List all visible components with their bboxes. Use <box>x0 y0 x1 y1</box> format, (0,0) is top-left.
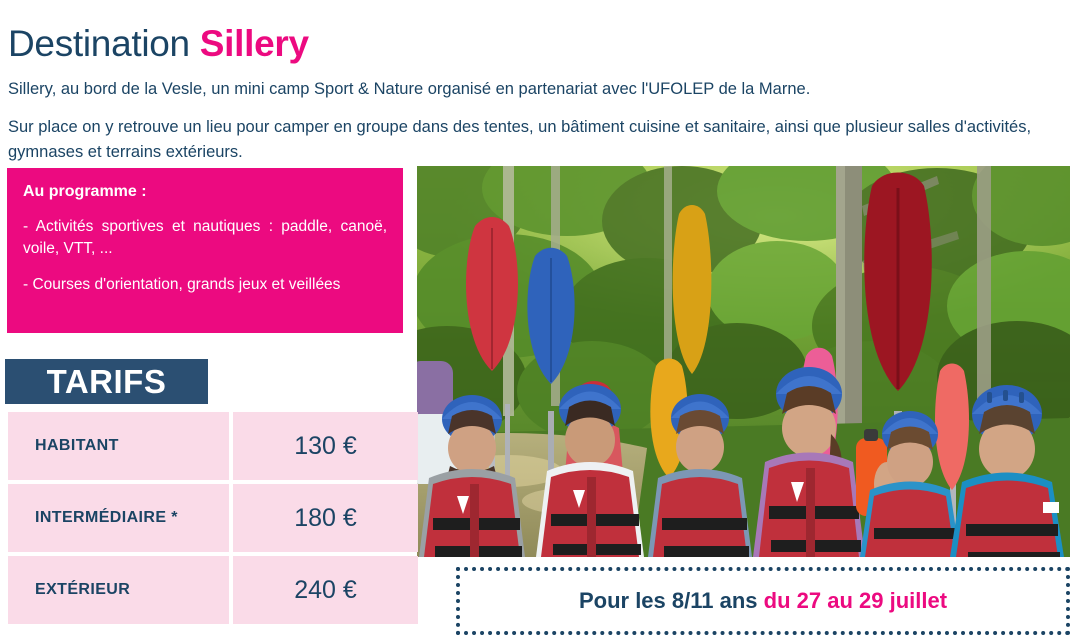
tarif-price: 130 € <box>233 412 418 480</box>
date-banner-text: Pour les 8/11 ans du 27 au 29 juillet <box>579 588 947 614</box>
programme-box: Au programme : - Activités sportives et … <box>7 168 403 333</box>
table-row: HABITANT 130 € <box>8 412 418 480</box>
tarif-price: 240 € <box>233 556 418 624</box>
tarif-label: HABITANT <box>8 412 229 480</box>
tarif-price: 180 € <box>233 484 418 552</box>
tarifs-table: HABITANT 130 € INTERMÉDIAIRE * 180 € EXT… <box>8 412 418 628</box>
page-title-accent: Sillery <box>200 23 309 64</box>
camp-photo-illustration <box>417 166 1070 557</box>
table-row: INTERMÉDIAIRE * 180 € <box>8 484 418 552</box>
tarif-label: EXTÉRIEUR <box>8 556 229 624</box>
programme-title: Au programme : <box>23 182 387 202</box>
page-title-prefix: Destination <box>8 23 200 64</box>
date-banner-prefix: Pour les 8/11 ans <box>579 588 764 613</box>
intro-paragraph-2: Sur place on y retrouve un lieu pour cam… <box>8 115 1068 165</box>
table-row: EXTÉRIEUR 240 € <box>8 556 418 624</box>
intro-paragraph-1: Sillery, au bord de la Vesle, un mini ca… <box>8 78 810 101</box>
page-title: Destination Sillery <box>8 23 309 65</box>
tarifs-heading: TARIFS <box>5 359 208 404</box>
camp-photo <box>417 166 1070 557</box>
programme-item-1: - Activités sportives et nautiques : pad… <box>23 216 387 260</box>
tarif-label: INTERMÉDIAIRE * <box>8 484 229 552</box>
programme-item-2: - Courses d'orientation, grands jeux et … <box>23 274 387 296</box>
date-banner-accent: du 27 au 29 juillet <box>764 588 947 613</box>
date-banner: Pour les 8/11 ans du 27 au 29 juillet <box>456 567 1070 635</box>
